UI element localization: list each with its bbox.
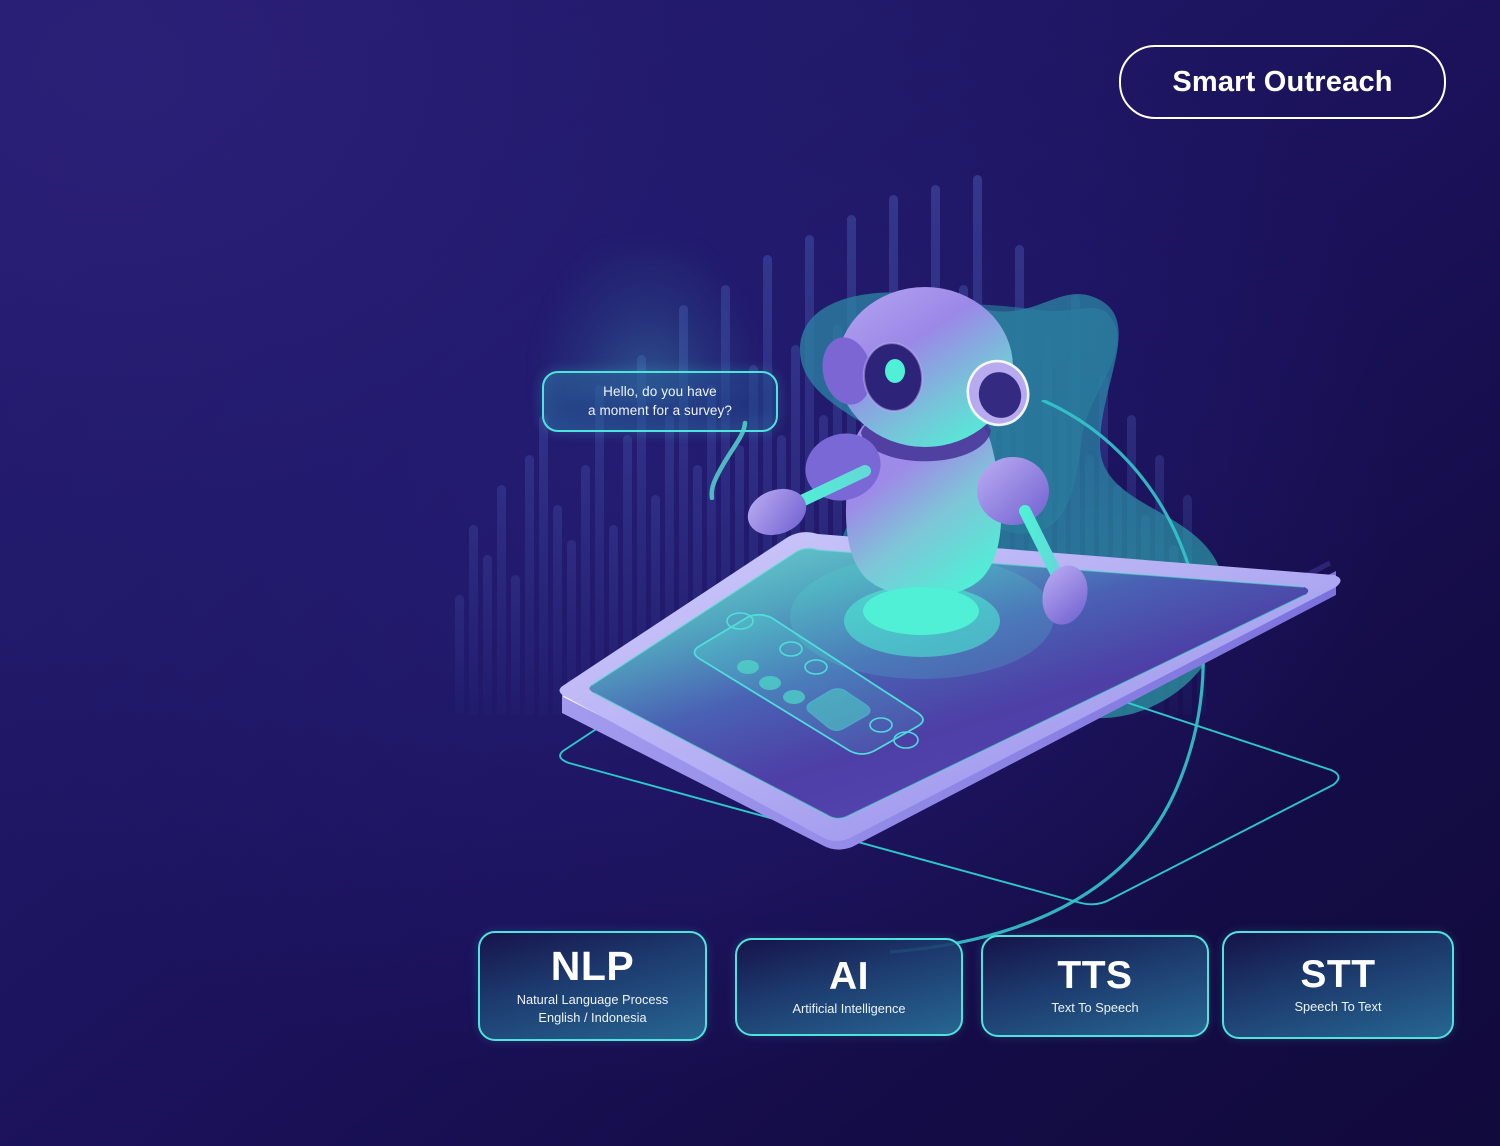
illustration-canvas: Hello, do you have a moment for a survey… xyxy=(0,0,1500,1146)
badge-ai[interactable]: AI Artificial Intelligence xyxy=(735,938,963,1036)
waveform-bar xyxy=(455,595,464,715)
waveform-bar xyxy=(497,485,506,715)
waveform-bar xyxy=(483,555,492,715)
waveform-bar xyxy=(525,455,534,715)
badge-ai-abbr: AI xyxy=(829,957,869,996)
badge-nlp-subtitle: Natural Language Process English / Indon… xyxy=(517,991,669,1025)
page-title: Smart Outreach xyxy=(1172,66,1392,99)
badge-stt-subtitle: Speech To Text xyxy=(1294,998,1381,1015)
badge-stt-abbr: STT xyxy=(1300,955,1375,994)
waveform-bar xyxy=(469,525,478,715)
badge-tts-abbr: TTS xyxy=(1057,956,1132,995)
badge-nlp[interactable]: NLP Natural Language Process English / I… xyxy=(478,931,707,1041)
badge-tts-subtitle: Text To Speech xyxy=(1051,999,1138,1016)
badge-tts[interactable]: TTS Text To Speech xyxy=(981,935,1209,1037)
speech-bubble-text: Hello, do you have a moment for a survey… xyxy=(588,383,732,420)
badge-ai-subtitle: Artificial Intelligence xyxy=(792,1000,905,1017)
title-pill[interactable]: Smart Outreach xyxy=(1119,45,1446,119)
chatbot-robot xyxy=(735,275,1095,650)
speech-bubble-tail xyxy=(700,420,780,500)
feature-badge-row: NLP Natural Language Process English / I… xyxy=(478,928,1458,1043)
badge-stt[interactable]: STT Speech To Text xyxy=(1222,931,1454,1039)
badge-nlp-abbr: NLP xyxy=(551,946,635,987)
waveform-bar xyxy=(511,575,520,715)
